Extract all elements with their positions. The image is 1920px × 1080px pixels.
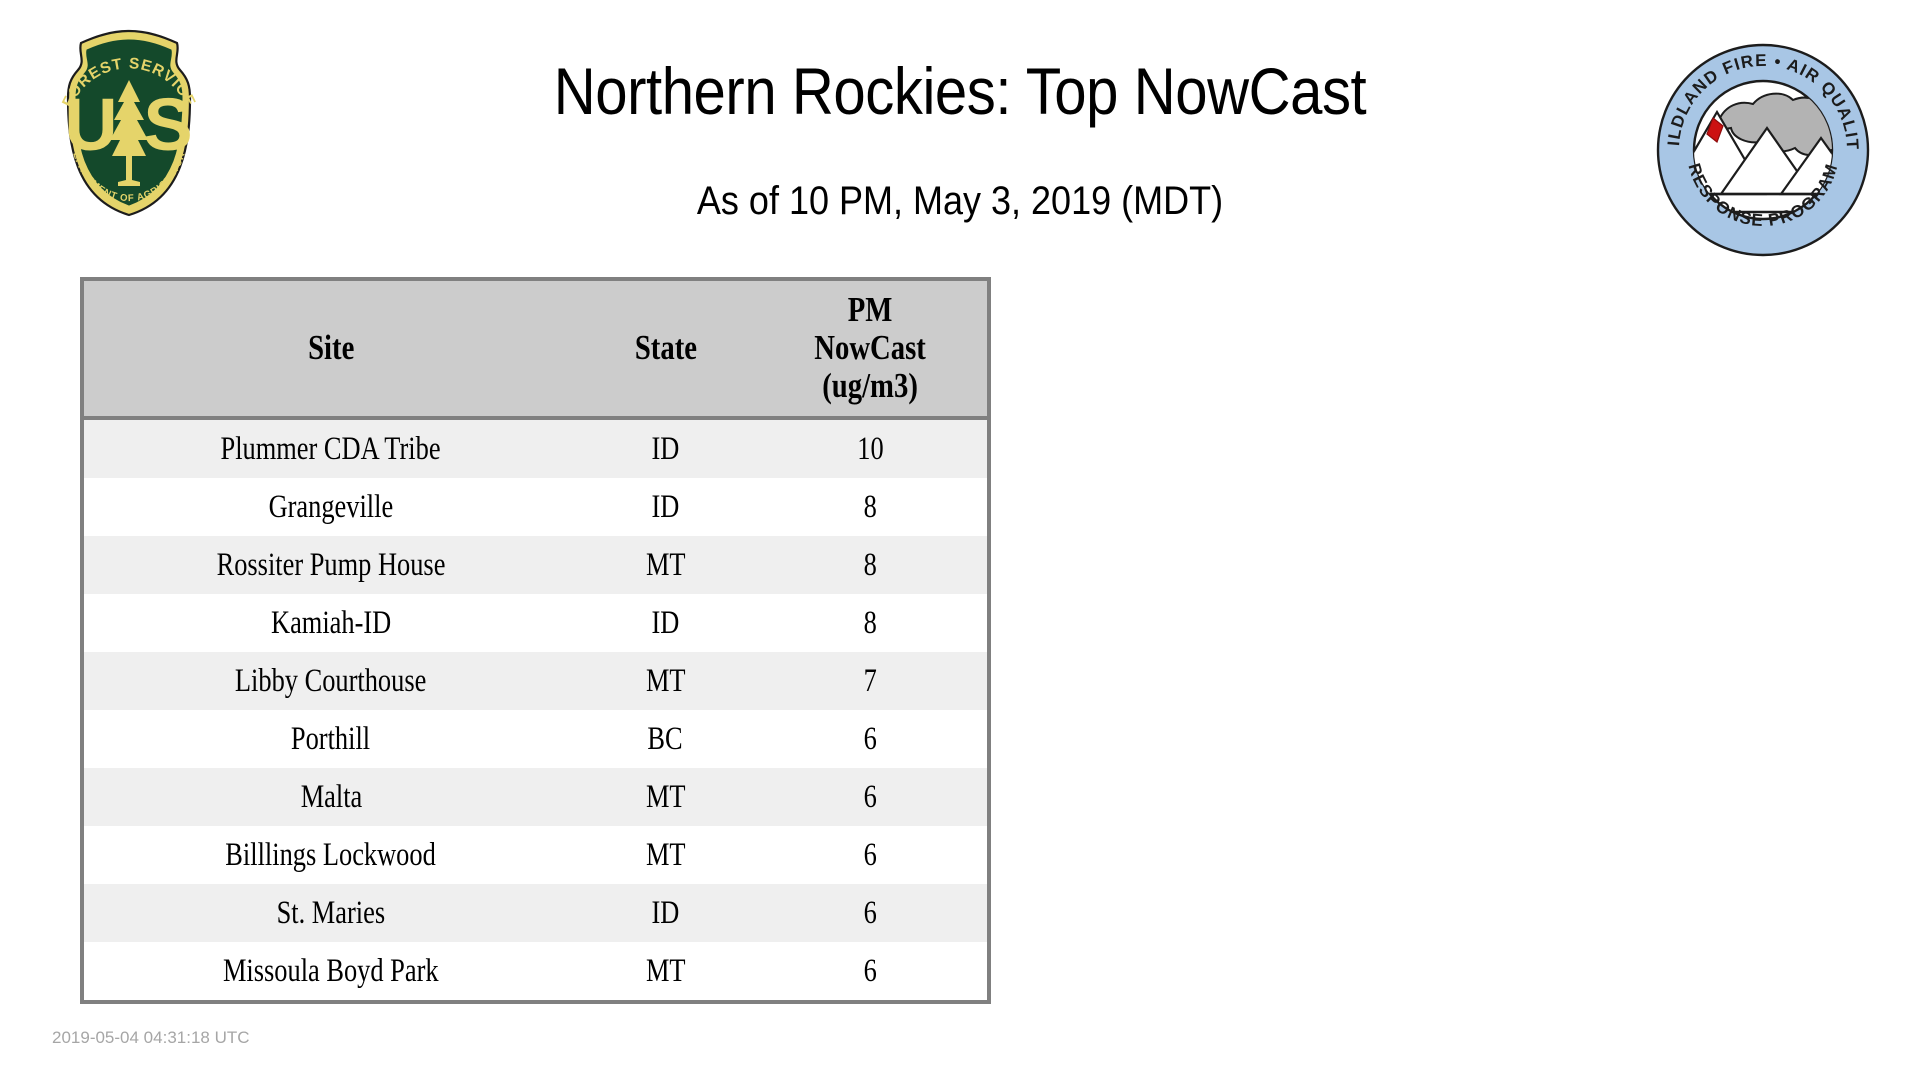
table-cell-site: Plummer CDA Tribe (84, 418, 578, 478)
table-cell-pm: 8 (753, 478, 987, 536)
table-row: MaltaMT6 (84, 768, 987, 826)
table-cell-site-text: Missoula Boyd Park (223, 955, 439, 988)
table-cell-state-text: MT (646, 955, 686, 988)
table-cell-pm-text: 8 (863, 491, 876, 524)
table-cell-site: Malta (84, 768, 578, 826)
table-cell-site-text: Porthill (291, 723, 370, 756)
table-cell-site: Kamiah-ID (84, 594, 578, 652)
table-cell-pm-text: 6 (863, 723, 876, 756)
table-cell-site-text: Grangeville (269, 491, 394, 524)
table-cell-pm-text: 7 (863, 665, 876, 698)
table-cell-pm-text: 6 (863, 955, 876, 988)
table-cell-state: MT (578, 768, 753, 826)
table-cell-site: St. Maries (84, 884, 578, 942)
table-cell-state-text: MT (646, 781, 686, 814)
table-row: Rossiter Pump HouseMT8 (84, 536, 987, 594)
table-cell-state-text: BC (648, 723, 683, 756)
table-cell-site: Billlings Lockwood (84, 826, 578, 884)
table-cell-state: MT (578, 536, 753, 594)
column-header-state: State (578, 281, 753, 418)
table-cell-site-text: St. Maries (277, 897, 386, 930)
page-title: Northern Rockies: Top NowCast (115, 58, 1805, 124)
table-cell-pm: 10 (753, 418, 987, 478)
table-cell-pm-text: 8 (863, 607, 876, 640)
table-row: Missoula Boyd ParkMT6 (84, 942, 987, 1000)
table-row: Kamiah-IDID8 (84, 594, 987, 652)
page-subtitle: As of 10 PM, May 3, 2019 (MDT) (96, 181, 1824, 221)
table-cell-state: ID (578, 478, 753, 536)
column-header-site: Site (84, 281, 578, 418)
table-cell-state-text: ID (652, 897, 680, 930)
column-header-site-label: Site (308, 329, 354, 367)
table-cell-site-text: Libby Courthouse (235, 665, 426, 698)
table-cell-state: BC (578, 710, 753, 768)
table-cell-site: Libby Courthouse (84, 652, 578, 710)
table-header: Site State PM NowCast (ug/m3) (84, 281, 987, 418)
table-cell-state: MT (578, 942, 753, 1000)
column-header-pm-nowcast-label: PM NowCast (ug/m3) (814, 291, 926, 404)
table-cell-pm-text: 10 (857, 433, 883, 466)
nowcast-table: Site State PM NowCast (ug/m3) Plummer CD… (84, 281, 987, 1000)
table-cell-pm: 6 (753, 884, 987, 942)
table-cell-pm: 6 (753, 768, 987, 826)
table-cell-pm: 6 (753, 826, 987, 884)
table-cell-state-text: MT (646, 839, 686, 872)
table-row: St. MariesID6 (84, 884, 987, 942)
table-row: PorthillBC6 (84, 710, 987, 768)
table-cell-state: MT (578, 652, 753, 710)
table-cell-state-text: MT (646, 665, 686, 698)
table-cell-site-text: Kamiah-ID (271, 607, 391, 640)
column-header-state-label: State (634, 329, 696, 367)
table-cell-pm: 8 (753, 536, 987, 594)
table-cell-state: ID (578, 594, 753, 652)
table-body: Plummer CDA TribeID10GrangevilleID8Rossi… (84, 418, 987, 1000)
footer-timestamp: 2019-05-04 04:31:18 UTC (52, 1028, 250, 1048)
table-cell-pm: 6 (753, 710, 987, 768)
column-header-pm-nowcast: PM NowCast (ug/m3) (753, 281, 987, 418)
table-cell-pm: 7 (753, 652, 987, 710)
shield-letter-u: U (64, 83, 117, 166)
table-cell-site: Rossiter Pump House (84, 536, 578, 594)
table-cell-pm-text: 6 (863, 839, 876, 872)
table-cell-state-text: ID (652, 491, 680, 524)
table-cell-site-text: Billlings Lockwood (226, 839, 436, 872)
table-cell-pm: 8 (753, 594, 987, 652)
table-cell-state: MT (578, 826, 753, 884)
table-row: GrangevilleID8 (84, 478, 987, 536)
table-row: Billlings LockwoodMT6 (84, 826, 987, 884)
table-cell-state: ID (578, 884, 753, 942)
table-row: Plummer CDA TribeID10 (84, 418, 987, 478)
table-cell-pm-text: 8 (863, 549, 876, 582)
table-cell-site: Porthill (84, 710, 578, 768)
table-cell-pm: 6 (753, 942, 987, 1000)
table-cell-site: Grangeville (84, 478, 578, 536)
table-cell-state-text: ID (652, 433, 680, 466)
table-cell-pm-text: 6 (863, 897, 876, 930)
table-header-row: Site State PM NowCast (ug/m3) (84, 281, 987, 418)
table-cell-site-text: Plummer CDA Tribe (221, 433, 441, 466)
table-row: Libby CourthouseMT7 (84, 652, 987, 710)
table-cell-site-text: Malta (300, 781, 362, 814)
table-cell-state: ID (578, 418, 753, 478)
table-cell-site: Missoula Boyd Park (84, 942, 578, 1000)
table-cell-pm-text: 6 (863, 781, 876, 814)
table-cell-state-text: ID (652, 607, 680, 640)
table-cell-state-text: MT (646, 549, 686, 582)
nowcast-table-container: Site State PM NowCast (ug/m3) Plummer CD… (80, 277, 991, 1004)
table-cell-site-text: Rossiter Pump House (217, 549, 446, 582)
